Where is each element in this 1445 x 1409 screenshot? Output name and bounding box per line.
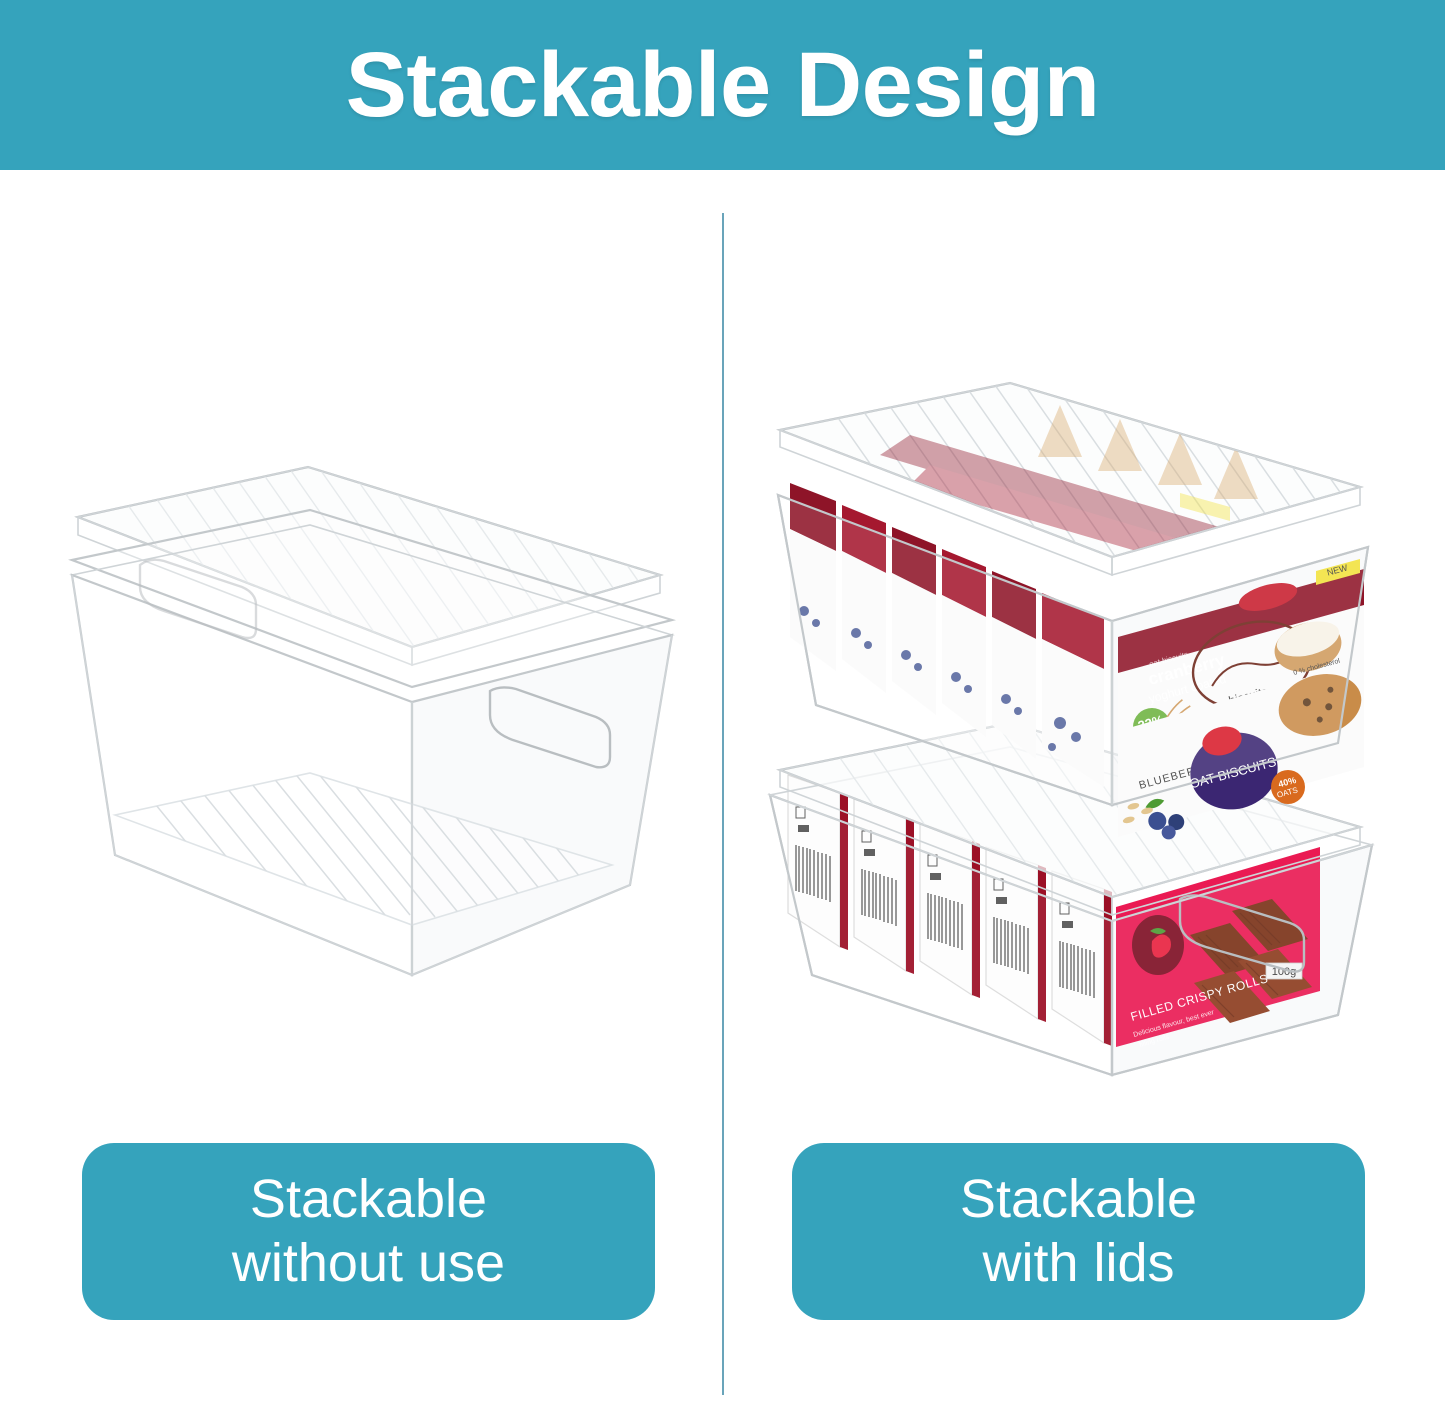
product-image-single-bin bbox=[60, 455, 680, 1000]
caption-line-1: Stackable bbox=[960, 1168, 1197, 1232]
page-title: Stackable Design bbox=[346, 39, 1100, 131]
caption-line-2: with lids bbox=[982, 1232, 1174, 1296]
caption-stackable-without-use: Stackable without use bbox=[82, 1143, 655, 1320]
caption-stackable-with-lids: Stackable with lids bbox=[792, 1143, 1365, 1320]
caption-line-1: Stackable bbox=[250, 1168, 487, 1232]
caption-line-2: without use bbox=[232, 1232, 505, 1296]
product-image-stacked-bins: 100g FILLED CRISPY ROLLS Delicious flavo… bbox=[760, 375, 1400, 1105]
header-band: Stackable Design bbox=[0, 0, 1445, 170]
